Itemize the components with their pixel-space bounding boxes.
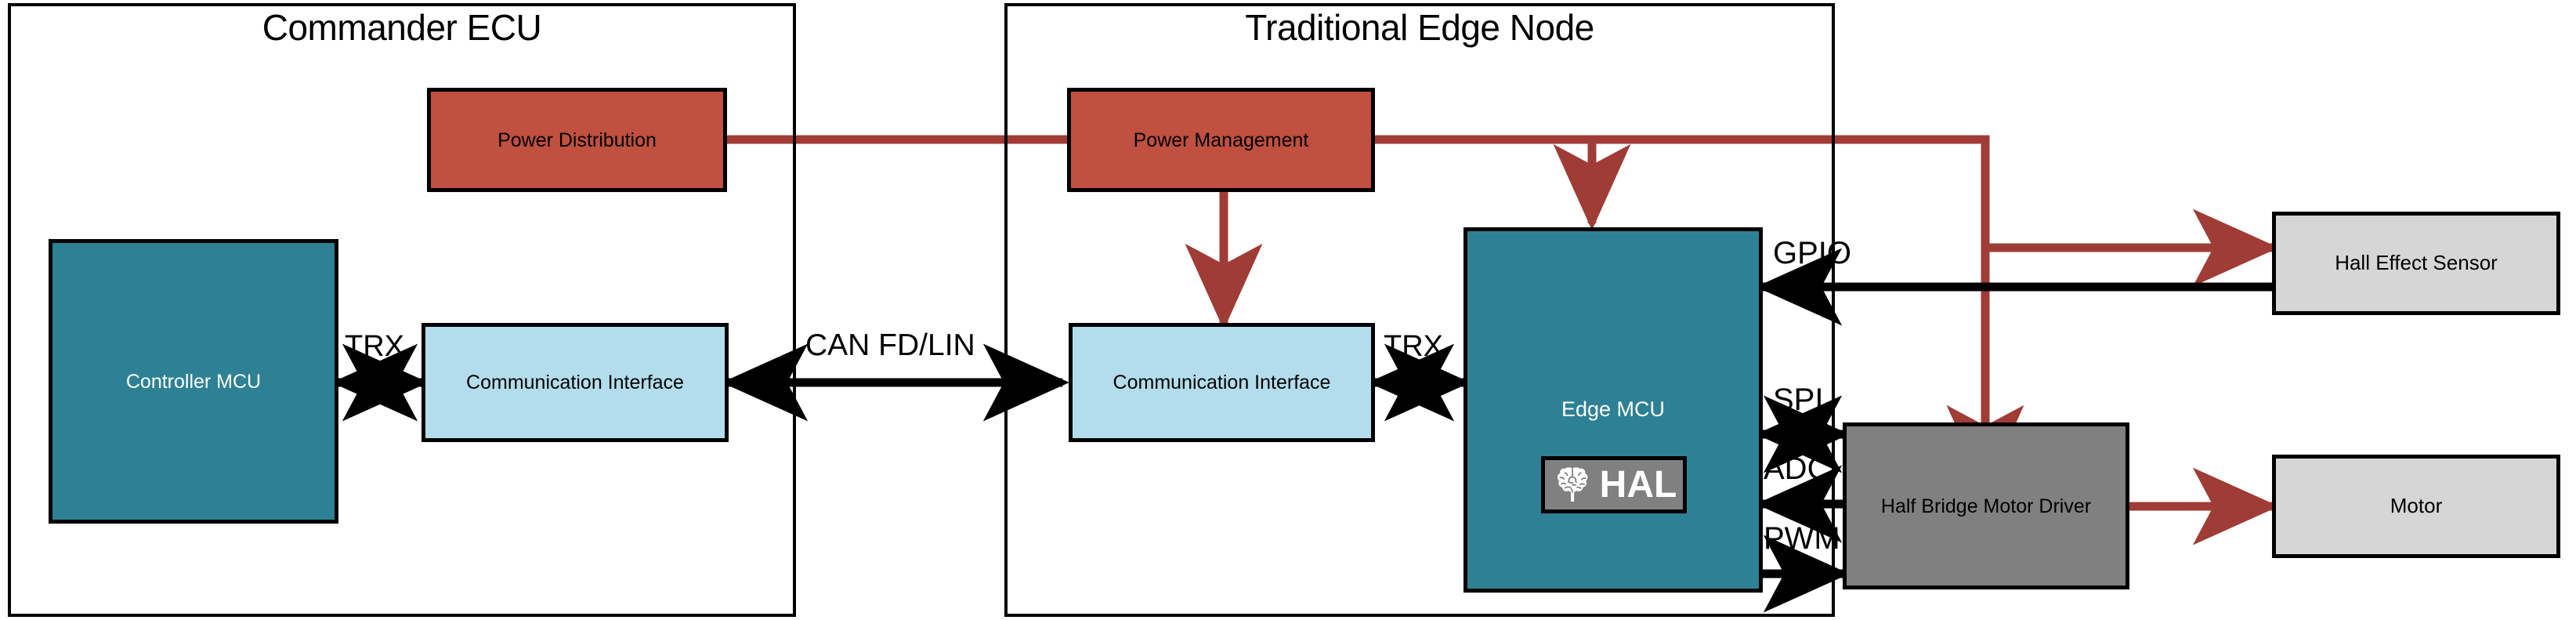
edge-label-adc: ADC (1764, 453, 1829, 484)
node-comm-interface-right-label: Communication Interface (1073, 372, 1371, 393)
node-controller-mcu[interactable]: Controller MCU (49, 239, 338, 524)
node-motor-label: Motor (2276, 495, 2556, 517)
node-motor[interactable]: Motor (2272, 455, 2560, 558)
node-power-distribution[interactable]: Power Distribution (427, 88, 727, 192)
edge-label-trx-right: TRX (1384, 332, 1443, 361)
node-controller-mcu-label: Controller MCU (52, 371, 335, 393)
edge-label-trx-left: TRX (345, 332, 404, 361)
edge-label-spi: SPI (1773, 384, 1823, 415)
hal-badge-label: HAL (1600, 466, 1677, 504)
edge-label-pwm: PWM (1764, 523, 1840, 554)
node-comm-interface-right[interactable]: Communication Interface (1069, 323, 1375, 442)
node-power-management[interactable]: Power Management (1067, 88, 1375, 192)
panel-title-edge-node: Traditional Edge Node (1004, 6, 1835, 49)
node-power-management-label: Power Management (1071, 129, 1371, 151)
edge-label-gpio: GPIO (1773, 237, 1851, 269)
brain-icon (1551, 463, 1595, 507)
node-hall-effect-sensor[interactable]: Hall Effect Sensor (2272, 212, 2560, 315)
node-comm-interface-left-label: Communication Interface (425, 372, 725, 393)
node-edge-mcu[interactable]: Edge MCU (1463, 227, 1763, 593)
node-comm-interface-left[interactable]: Communication Interface (421, 323, 729, 442)
node-edge-mcu-label: Edge MCU (1467, 397, 1759, 421)
node-motor-driver[interactable]: Half Bridge Motor Driver (1843, 422, 2129, 589)
diagram-canvas: Commander ECU Traditional Edge Node Cont… (0, 0, 2576, 620)
node-hall-effect-sensor-label: Hall Effect Sensor (2276, 252, 2556, 274)
node-motor-driver-label: Half Bridge Motor Driver (1847, 495, 2126, 517)
panel-title-commander-ecu: Commander ECU (8, 6, 796, 49)
hal-badge: HAL (1541, 456, 1687, 513)
edge-label-can-fd-lin: CAN FD/LIN (805, 330, 975, 361)
node-power-distribution-label: Power Distribution (431, 129, 723, 151)
